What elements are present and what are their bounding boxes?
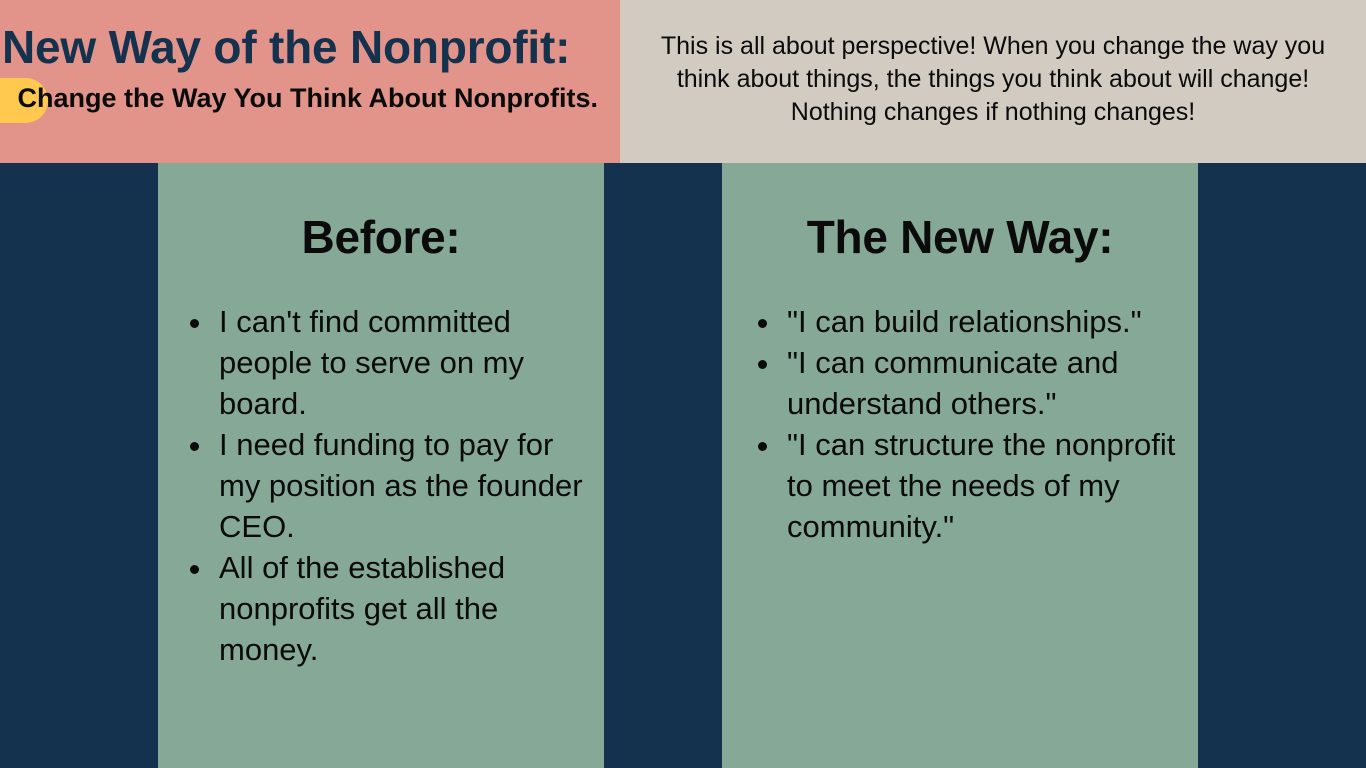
intro-paragraph: This is all about perspective! When you … bbox=[656, 30, 1330, 129]
column-before: Before: I can't find committed people to… bbox=[158, 163, 604, 768]
header-title-panel: New Way of the Nonprofit: Change the Way… bbox=[0, 0, 620, 163]
column-new-way-list: "I can build relationships." "I can comm… bbox=[722, 301, 1198, 547]
list-item: "I can communicate and understand others… bbox=[722, 342, 1198, 424]
list-item: I can't find committed people to serve o… bbox=[158, 301, 604, 424]
header-intro-panel: This is all about perspective! When you … bbox=[620, 0, 1366, 163]
column-new-way-heading: The New Way: bbox=[722, 163, 1198, 263]
page-title: New Way of the Nonprofit: bbox=[2, 19, 618, 75]
column-new-way: The New Way: "I can build relationships.… bbox=[722, 163, 1198, 768]
list-item-label: "I can build relationships." bbox=[787, 304, 1142, 339]
column-before-heading: Before: bbox=[158, 163, 604, 263]
list-item: All of the established nonprofits get al… bbox=[158, 547, 604, 670]
bullet-dot-icon bbox=[190, 319, 199, 328]
list-item-label: All of the established nonprofits get al… bbox=[219, 550, 505, 667]
bullet-dot-icon bbox=[190, 565, 199, 574]
slide-canvas: New Way of the Nonprofit: Change the Way… bbox=[0, 0, 1366, 768]
bullet-dot-icon bbox=[190, 442, 199, 451]
page-subtitle: Change the Way You Think About Nonprofit… bbox=[0, 80, 616, 116]
bullet-dot-icon bbox=[758, 442, 767, 451]
list-item: I need funding to pay for my position as… bbox=[158, 424, 604, 547]
list-item-label: I can't find committed people to serve o… bbox=[219, 304, 524, 421]
bullet-dot-icon bbox=[758, 360, 767, 369]
list-item-label: "I can structure the nonprofit to meet t… bbox=[787, 427, 1175, 544]
list-item-label: "I can communicate and understand others… bbox=[787, 345, 1119, 421]
list-item-label: I need funding to pay for my position as… bbox=[219, 427, 583, 544]
list-item: "I can structure the nonprofit to meet t… bbox=[722, 424, 1198, 547]
list-item: "I can build relationships." bbox=[722, 301, 1198, 342]
column-before-list: I can't find committed people to serve o… bbox=[158, 301, 604, 670]
bullet-dot-icon bbox=[758, 319, 767, 328]
header-band: New Way of the Nonprofit: Change the Way… bbox=[0, 0, 1366, 163]
